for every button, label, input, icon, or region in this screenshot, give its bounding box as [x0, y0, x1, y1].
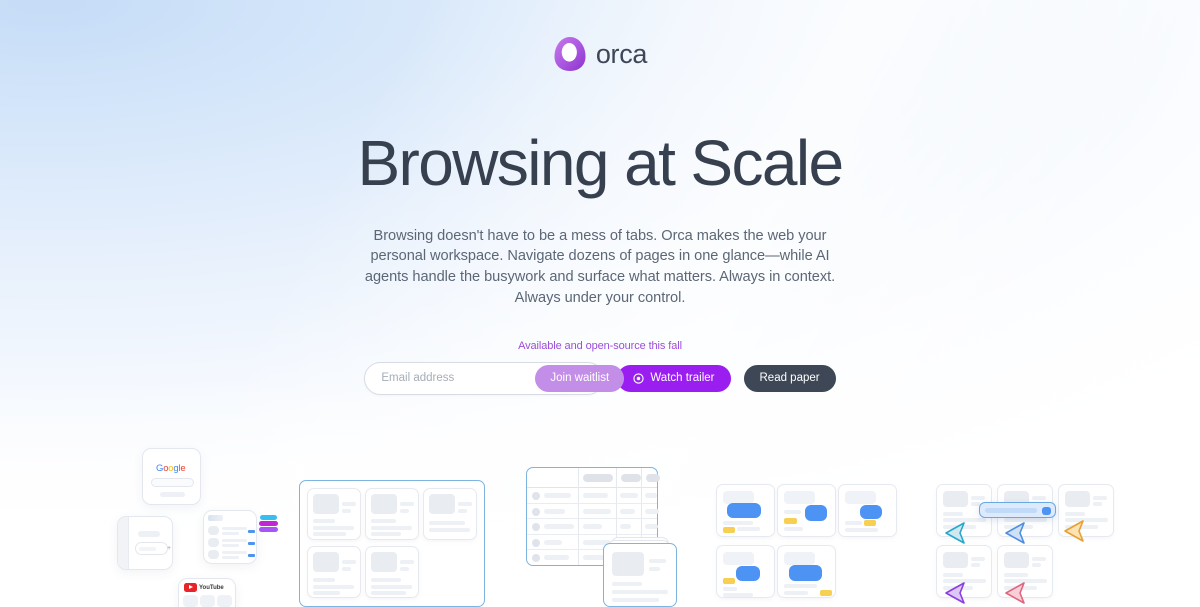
highlight-card[interactable] — [777, 484, 836, 537]
availability-note: Available and open-source this fall — [0, 340, 1200, 352]
watch-trailer-label: Watch trailer — [650, 372, 714, 384]
site-logo — [208, 515, 223, 521]
article-card[interactable] — [307, 488, 361, 540]
placeholder-line — [400, 509, 409, 513]
page-title: Browsing at Scale — [0, 128, 1200, 200]
placeholder-line — [971, 563, 980, 567]
article-grid-panel[interactable] — [299, 480, 485, 607]
thumb — [371, 494, 397, 514]
placeholder-line — [1032, 557, 1046, 561]
blue-highlight — [789, 565, 822, 581]
placeholder-line — [222, 539, 247, 542]
highlight-card[interactable] — [716, 484, 775, 537]
placeholder-line — [429, 521, 465, 525]
command-bar-action-icon[interactable] — [1042, 507, 1051, 515]
placeholder-line — [845, 521, 862, 525]
placeholder-line — [612, 598, 659, 602]
table-row[interactable] — [527, 504, 657, 520]
blue-highlight — [736, 566, 760, 581]
column-header — [646, 474, 660, 482]
thumb — [313, 494, 339, 514]
highlight-card[interactable] — [838, 484, 897, 537]
thumb — [723, 552, 754, 565]
card-sidebar — [118, 517, 129, 569]
cell-text — [620, 493, 638, 498]
placeholder-line — [222, 544, 239, 547]
article-card[interactable] — [365, 546, 419, 598]
cell-text — [544, 555, 569, 560]
thumb — [943, 491, 968, 507]
placeholder-line — [222, 527, 247, 530]
cursor-teal — [944, 520, 968, 551]
command-bar[interactable] — [979, 502, 1056, 518]
read-paper-button[interactable]: Read paper — [744, 365, 836, 392]
placeholder-line — [458, 502, 472, 506]
badge — [248, 530, 255, 533]
brand-name: orca — [596, 39, 647, 70]
row-avatar — [532, 539, 540, 547]
placeholder-line — [371, 591, 406, 595]
cell-text — [583, 493, 608, 498]
article-card[interactable] — [365, 488, 419, 540]
cell-text — [583, 524, 602, 529]
join-waitlist-button[interactable]: Join waitlist — [535, 365, 624, 392]
placeholder-line — [1065, 512, 1085, 516]
thumb — [208, 526, 219, 535]
cell-text — [645, 509, 659, 514]
placeholder-line — [342, 509, 351, 513]
article-card[interactable] — [307, 546, 361, 598]
thumb — [845, 491, 876, 504]
hero-illustration: Google + YouTube — [0, 430, 1200, 607]
row-avatar — [532, 492, 540, 500]
placeholder-line — [429, 528, 470, 532]
column-header — [583, 474, 613, 482]
cell-text — [544, 493, 571, 498]
column-header — [621, 474, 641, 482]
thumb — [313, 552, 339, 572]
table-row[interactable] — [527, 488, 657, 504]
placeholder-line — [1093, 502, 1102, 506]
placeholder-line — [845, 528, 878, 532]
placeholder-line — [222, 551, 247, 554]
tab-pill-cyan — [260, 515, 277, 520]
email-signup-group[interactable]: Join waitlist — [364, 362, 604, 395]
placeholder-line — [371, 532, 401, 536]
google-tab-card[interactable]: Google — [142, 448, 201, 505]
results-tab-card[interactable] — [203, 510, 257, 564]
video-thumb — [200, 595, 215, 607]
placeholder-line — [342, 502, 356, 506]
table-row[interactable] — [527, 519, 657, 535]
cell-text — [544, 509, 565, 514]
thumb — [1065, 491, 1090, 507]
cursor-purple — [944, 580, 968, 607]
watch-trailer-button[interactable]: Watch trailer — [617, 365, 730, 392]
row-avatar — [532, 554, 540, 562]
placeholder-line — [400, 560, 414, 564]
placeholder-line — [723, 521, 753, 525]
youtube-play-icon — [184, 583, 197, 592]
yellow-highlight — [723, 527, 735, 533]
placeholder-line — [160, 492, 185, 497]
placeholder-line — [371, 519, 396, 523]
placeholder-line — [784, 510, 801, 514]
placeholder-line — [784, 527, 803, 531]
placeholder-line — [943, 512, 963, 516]
yellow-highlight — [864, 520, 876, 526]
cursor-blue — [1004, 520, 1028, 551]
yellow-highlight — [820, 590, 832, 596]
placeholder-line — [458, 509, 467, 513]
cta-row: Join waitlist Watch trailer Read paper — [0, 362, 1200, 395]
tab-pill-magenta — [259, 521, 278, 526]
placeholder-line — [313, 578, 335, 582]
highlight-card[interactable] — [777, 545, 836, 598]
placeholder-line — [649, 567, 660, 571]
placeholder-line — [400, 502, 414, 506]
placeholder-line — [943, 573, 963, 577]
youtube-logo: YouTube — [184, 583, 224, 592]
placeholder-line — [1032, 563, 1041, 567]
placeholder-line — [737, 527, 760, 531]
placeholder-line — [1093, 496, 1107, 500]
hero-subtitle: Browsing doesn't have to be a mess of ta… — [348, 226, 853, 309]
video-thumb — [217, 595, 232, 607]
placeholder-line — [612, 590, 668, 594]
placeholder-line — [313, 591, 340, 595]
thumb — [784, 552, 815, 565]
thumb — [208, 538, 219, 547]
cursor-pink — [1004, 580, 1028, 607]
badge — [248, 542, 255, 545]
thumb — [943, 552, 968, 568]
google-logo: Google — [156, 463, 186, 474]
badge — [248, 554, 255, 557]
thumb — [784, 491, 815, 504]
thumb — [208, 550, 219, 559]
blue-highlight — [805, 505, 827, 521]
placeholder-line — [313, 585, 354, 589]
blue-highlight — [727, 503, 761, 518]
placeholder-line — [649, 559, 666, 563]
placeholder-line — [371, 585, 412, 589]
orca-logo-icon — [553, 36, 587, 72]
stacked-doc-group[interactable] — [603, 537, 677, 607]
placeholder-line — [313, 526, 354, 530]
placeholder-line — [971, 557, 985, 561]
youtube-tab-card[interactable]: YouTube — [178, 578, 236, 607]
placeholder-line — [1032, 496, 1046, 500]
command-bar-text — [985, 508, 1037, 513]
thumb — [429, 494, 455, 514]
placeholder-line — [342, 560, 356, 564]
placeholder-line — [971, 496, 985, 500]
cell-text — [645, 493, 657, 498]
cell-text — [544, 524, 574, 529]
email-input[interactable] — [365, 372, 535, 384]
article-card[interactable] — [423, 488, 477, 540]
cell-text — [544, 540, 562, 545]
placeholder-line — [400, 567, 409, 571]
plus-icon[interactable]: + — [167, 545, 171, 552]
placeholder-line — [1004, 573, 1028, 577]
placeholder-line — [342, 567, 351, 571]
thumb — [612, 552, 644, 576]
placeholder-line — [612, 582, 642, 586]
row-avatar — [532, 508, 540, 516]
placeholder-line — [784, 591, 808, 595]
cell-text — [645, 524, 658, 529]
thumb — [371, 552, 397, 572]
youtube-wordmark: YouTube — [199, 585, 224, 591]
google-search-box[interactable] — [151, 478, 194, 487]
brand-logo[interactable]: orca — [0, 36, 1200, 72]
placeholder-line — [784, 584, 817, 588]
cell-text — [620, 524, 631, 529]
blue-highlight — [860, 505, 882, 519]
placeholder-line — [723, 593, 753, 597]
yellow-highlight — [723, 578, 735, 584]
cursor-orange — [1063, 518, 1087, 549]
video-thumb — [183, 595, 198, 607]
placeholder-line — [313, 532, 346, 536]
row-avatar — [532, 523, 540, 531]
placeholder-line — [723, 587, 737, 591]
cell-text — [620, 509, 635, 514]
record-circle-icon — [633, 373, 644, 384]
placeholder-line — [371, 578, 401, 582]
highlight-card[interactable] — [716, 545, 775, 598]
placeholder-line — [222, 556, 239, 559]
placeholder-line — [222, 532, 239, 535]
doc-front[interactable] — [603, 543, 677, 607]
app-tab-card[interactable]: + — [117, 516, 173, 570]
tab-pill-purple — [259, 527, 278, 532]
thumb — [1004, 552, 1029, 568]
table-header-row — [527, 468, 657, 488]
yellow-highlight — [784, 518, 797, 524]
cell-text — [583, 509, 611, 514]
placeholder-line — [313, 519, 335, 523]
placeholder-line — [139, 547, 156, 551]
placeholder-line — [371, 526, 412, 530]
placeholder-line — [138, 531, 160, 537]
